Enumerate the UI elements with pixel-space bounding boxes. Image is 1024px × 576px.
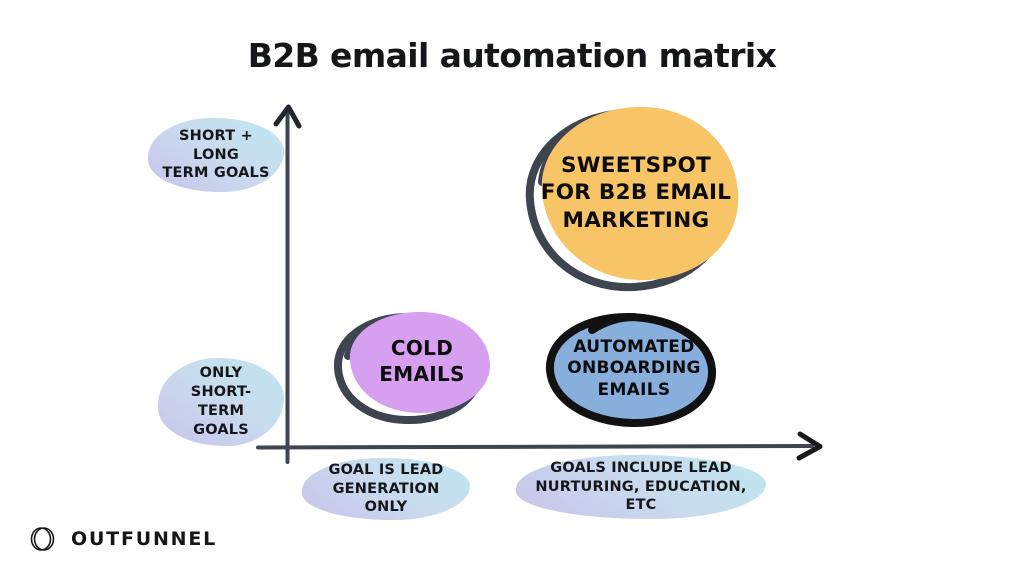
x-axis-left-label-line1: GOAL IS LEAD [316, 461, 456, 480]
y-axis-top-label-line2: TERM GOALS [162, 164, 270, 183]
y-axis-top-label-line1: SHORT + LONG [162, 127, 270, 165]
bubble-cold-emails-fill [350, 312, 490, 413]
outfunnel-wordmark: OUTFUNNEL [71, 528, 217, 550]
x-axis-left-label-line2: GENERATION ONLY [316, 480, 456, 518]
outfunnel-rings-icon [28, 524, 58, 554]
x-axis-left-label: GOAL IS LEAD GENERATION ONLY [302, 458, 470, 520]
bubble-sweetspot: SWEETSPOT FOR B2B EMAIL MARKETING [512, 104, 744, 294]
x-axis-right-label-line2: NURTURING, EDUCATION, ETC [530, 478, 752, 516]
x-axis-line [258, 446, 812, 448]
bubble-sweetspot-fill [542, 107, 739, 280]
y-axis-bottom-label: ONLY SHORT-TERM GOALS [158, 358, 284, 446]
x-axis-right-label: GOALS INCLUDE LEAD NURTURING, EDUCATION,… [516, 455, 766, 519]
y-axis-bottom-label-line3: GOALS [172, 421, 270, 440]
bubble-cold-emails: COLD EMAILS [326, 304, 494, 430]
matrix-canvas: B2B email automation matrix SHORT + LONG… [0, 0, 1024, 576]
x-axis-right-label-line1: GOALS INCLUDE LEAD [530, 459, 752, 478]
bubble-automated-onboarding-shape [550, 317, 712, 423]
y-axis-bottom-label-line1: ONLY [172, 364, 270, 383]
y-axis-bottom-label-line2: SHORT-TERM [172, 383, 270, 421]
bubble-automated-onboarding: AUTOMATED ONBOARDING EMAILS [534, 308, 726, 432]
y-axis-top-label: SHORT + LONG TERM GOALS [148, 118, 284, 192]
outfunnel-logo: OUTFUNNEL [28, 524, 217, 554]
